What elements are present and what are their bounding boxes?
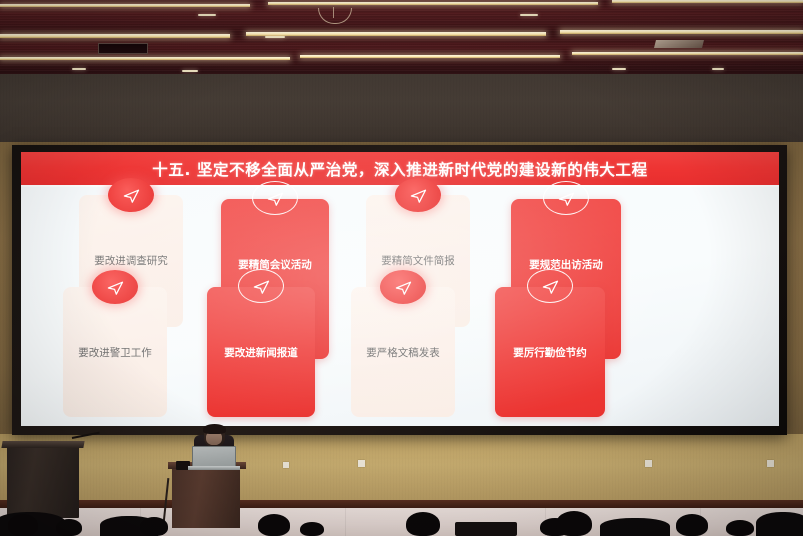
baseboard-trim (0, 500, 803, 508)
slide-card-label: 要严格文稿发表 (351, 345, 455, 360)
paper-plane-icon (92, 270, 138, 304)
lecture-hall-photo: 十五. 坚定不移全面从严治党，深入推进新时代党的建设新的伟大工程 要改进调查研究… (0, 0, 803, 536)
slide-card-label: 要改进调查研究 (79, 253, 183, 268)
wall-outlet-icon (358, 460, 365, 467)
projection-screen-frame: 十五. 坚定不移全面从严治党，深入推进新时代党的建设新的伟大工程 要改进调查研究… (12, 145, 787, 435)
audience-person (556, 511, 592, 536)
ceiling-emblem-icon (318, 8, 352, 24)
paper-plane-icon (380, 270, 426, 304)
audience-person (756, 512, 803, 536)
audience-person (406, 512, 440, 536)
slide-card[interactable]: 要改进新闻报道 (207, 287, 315, 417)
audience-person (676, 514, 708, 536)
audience-person (300, 522, 324, 536)
slide-card-label: 要精简会议活动 (221, 257, 329, 272)
slide-card-label: 要规范出访活动 (511, 257, 621, 272)
paper-plane-icon (527, 269, 573, 303)
laptop-base (188, 466, 240, 470)
ceiling (0, 0, 803, 74)
paper-plane-icon (395, 178, 441, 212)
audience-person (140, 517, 168, 536)
slide-card[interactable]: 要改进警卫工作 (63, 287, 167, 417)
audience-person (56, 519, 82, 536)
presenter-desk (172, 466, 240, 528)
audience-equipment (455, 522, 517, 536)
lectern (7, 446, 79, 518)
slide-title: 十五. 坚定不移全面从严治党，深入推进新时代党的建设新的伟大工程 (152, 158, 648, 180)
lectern-top (1, 441, 84, 448)
upper-wall-panel (0, 74, 803, 142)
slide-card-label: 要厉行勤俭节约 (495, 345, 605, 360)
paper-plane-icon (108, 178, 154, 212)
ceiling-vent-secondary (654, 40, 704, 48)
laptop-screen (192, 446, 236, 468)
wall-outlet-icon (283, 462, 289, 468)
slide-card-label: 要改进新闻报道 (207, 345, 315, 360)
paper-plane-icon (238, 269, 284, 303)
presenter-hair (203, 424, 226, 434)
slide-card-grid: 要改进调查研究 要精简会议活动 要精简文件简报 (21, 187, 779, 426)
wall-outlet-icon (645, 460, 652, 467)
audience-person (726, 520, 754, 536)
ceiling-vent (98, 43, 148, 54)
projection-screen: 十五. 坚定不移全面从严治党，深入推进新时代党的建设新的伟大工程 要改进调查研究… (21, 152, 779, 426)
paper-plane-icon (252, 181, 298, 215)
audience-person (600, 518, 670, 536)
wall-outlet-icon (767, 460, 774, 467)
slide-card-label: 要精简文件简报 (366, 253, 470, 268)
lower-wall-panel (0, 434, 803, 504)
paper-plane-icon (543, 181, 589, 215)
slide-card[interactable]: 要厉行勤俭节约 (495, 287, 605, 417)
slide-card[interactable]: 要严格文稿发表 (351, 287, 455, 417)
slide-card-label: 要改进警卫工作 (63, 345, 167, 360)
audience-person (258, 514, 290, 536)
audience-person (8, 514, 38, 536)
